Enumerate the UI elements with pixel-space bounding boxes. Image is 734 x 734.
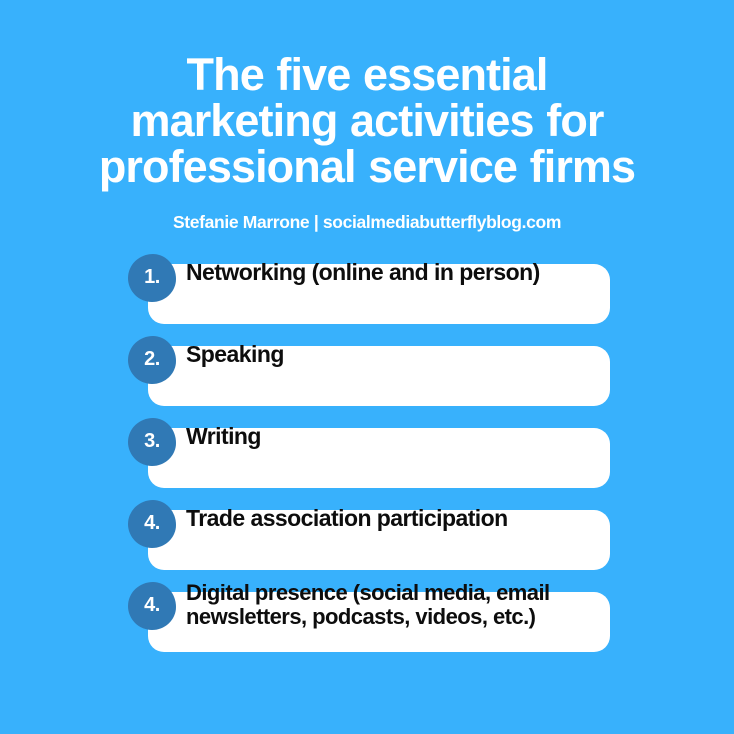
activity-list: 1. Networking (online and in person) 2. … — [0, 254, 734, 664]
number-badge: 4. — [128, 582, 176, 630]
list-item: 2. Speaking — [0, 336, 734, 418]
activity-label: Speaking — [186, 342, 598, 367]
poster-canvas: The five essential marketing activities … — [0, 0, 734, 734]
activity-card: Speaking — [148, 346, 610, 406]
list-item: 3. Writing — [0, 418, 734, 500]
page-title: The five essential marketing activities … — [87, 52, 647, 190]
list-item: 4. Digital presence (social media, email… — [0, 582, 734, 664]
list-item: 1. Networking (online and in person) — [0, 254, 734, 336]
number-badge: 4. — [128, 500, 176, 548]
byline: Stefanie Marrone | socialmediabutterflyb… — [173, 190, 561, 232]
activity-card: Trade association participation — [148, 510, 610, 570]
number-badge-label: 4. — [144, 513, 160, 533]
number-badge-label: 2. — [144, 349, 160, 369]
number-badge: 2. — [128, 336, 176, 384]
activity-label: Trade association participation — [186, 506, 598, 531]
number-badge: 3. — [128, 418, 176, 466]
list-item: 4. Trade association participation — [0, 500, 734, 582]
activity-label: Writing — [186, 424, 598, 449]
number-badge: 1. — [128, 254, 176, 302]
poster-header: The five essential marketing activities … — [0, 0, 734, 232]
activity-label: Networking (online and in person) — [186, 260, 598, 285]
activity-card: Digital presence (social media, email ne… — [148, 592, 610, 652]
number-badge-label: 3. — [144, 431, 160, 451]
number-badge-label: 1. — [144, 267, 160, 287]
activity-card: Networking (online and in person) — [148, 264, 610, 324]
activity-card: Writing — [148, 428, 610, 488]
number-badge-label: 4. — [144, 595, 160, 615]
activity-label: Digital presence (social media, email ne… — [186, 581, 598, 629]
